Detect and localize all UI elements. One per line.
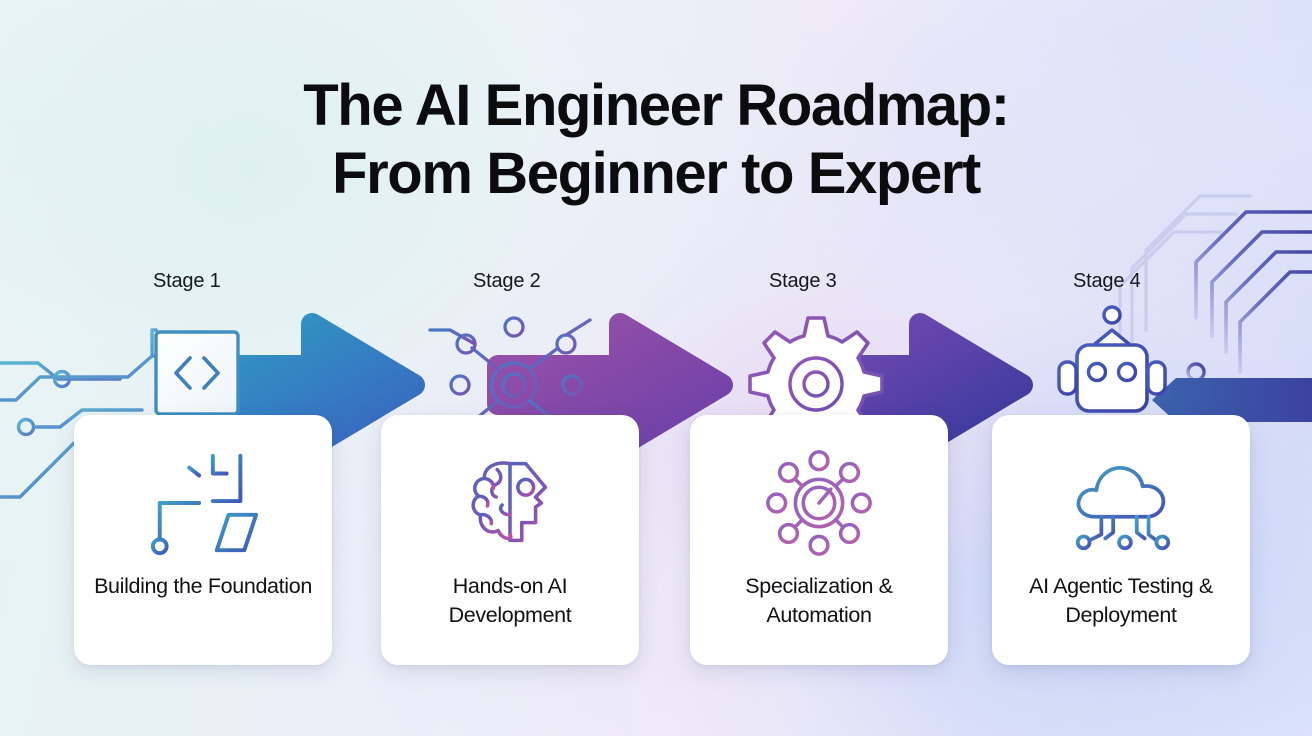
stage-label-4: Stage 4	[1073, 270, 1141, 293]
background-glow-left	[0, 0, 551, 427]
stage-card-4[interactable]: AI Agentic Testing & Deployment	[992, 415, 1250, 665]
cloud-circuit-icon	[1062, 444, 1180, 562]
page-title: The AI Engineer Roadmap: From Beginner t…	[0, 72, 1312, 208]
card-label-4: AI Agentic Testing & Deployment	[1005, 572, 1237, 629]
stage-card-1[interactable]: Building the Foundation	[74, 415, 332, 665]
title-line-2: From Beginner to Expert	[0, 140, 1312, 208]
flowchart-algorithm-icon	[144, 444, 262, 562]
stage-card-3[interactable]: Specialization & Automation	[690, 415, 948, 665]
radial-hub-gauge-icon	[760, 444, 878, 562]
stage-card-2[interactable]: Hands-on AI Development	[381, 415, 639, 665]
infographic-canvas: The AI Engineer Roadmap: From Beginner t…	[0, 0, 1312, 736]
card-label-1: Building the Foundation	[87, 572, 319, 601]
title-line-1: The AI Engineer Roadmap:	[303, 73, 1008, 138]
stage-label-2: Stage 2	[473, 270, 541, 293]
stage-label-3: Stage 3	[769, 270, 837, 293]
card-label-3: Specialization & Automation	[703, 572, 935, 629]
brain-head-profile-icon	[451, 444, 569, 562]
card-label-2: Hands-on AI Development	[394, 572, 626, 629]
stage-label-1: Stage 1	[153, 270, 221, 293]
